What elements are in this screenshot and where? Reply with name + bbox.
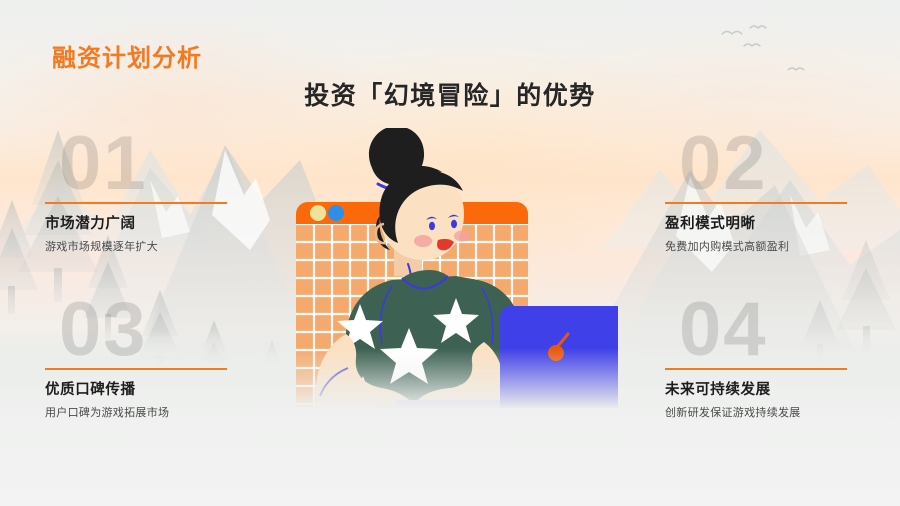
feature-divider [665, 202, 847, 204]
feature-divider [45, 202, 227, 204]
feature-description: 免费加内购模式高额盈利 [665, 238, 789, 254]
feature-title: 盈利模式明晰 [665, 212, 756, 233]
main-heading: 投资「幻境冒险」的优势 [0, 76, 900, 112]
cherry-logo [548, 345, 564, 361]
cheek-left [414, 235, 432, 247]
feature-description: 游戏市场规模逐年扩大 [45, 238, 158, 254]
feature-description: 创新研发保证游戏持续发展 [665, 404, 801, 420]
cheek-right [454, 231, 470, 242]
feature-divider [45, 368, 227, 370]
slide-canvas: 融资计划分析 投资「幻境冒险」的优势 01 市场潜力广阔 游戏市场规模逐年扩大 … [0, 0, 900, 506]
window-dot-blue [328, 205, 344, 221]
feature-title: 未来可持续发展 [665, 378, 771, 399]
feature-title: 优质口碑传播 [45, 378, 136, 399]
window-dot-yellow [310, 205, 326, 221]
page-title: 融资计划分析 [52, 38, 202, 73]
feature-title: 市场潜力广阔 [45, 212, 136, 233]
feature-description: 用户口碑为游戏拓展市场 [45, 404, 169, 420]
laptop [500, 306, 618, 418]
laptop-base [396, 400, 516, 414]
woman-at-laptop-illustration [288, 128, 618, 418]
feature-divider [665, 368, 847, 370]
